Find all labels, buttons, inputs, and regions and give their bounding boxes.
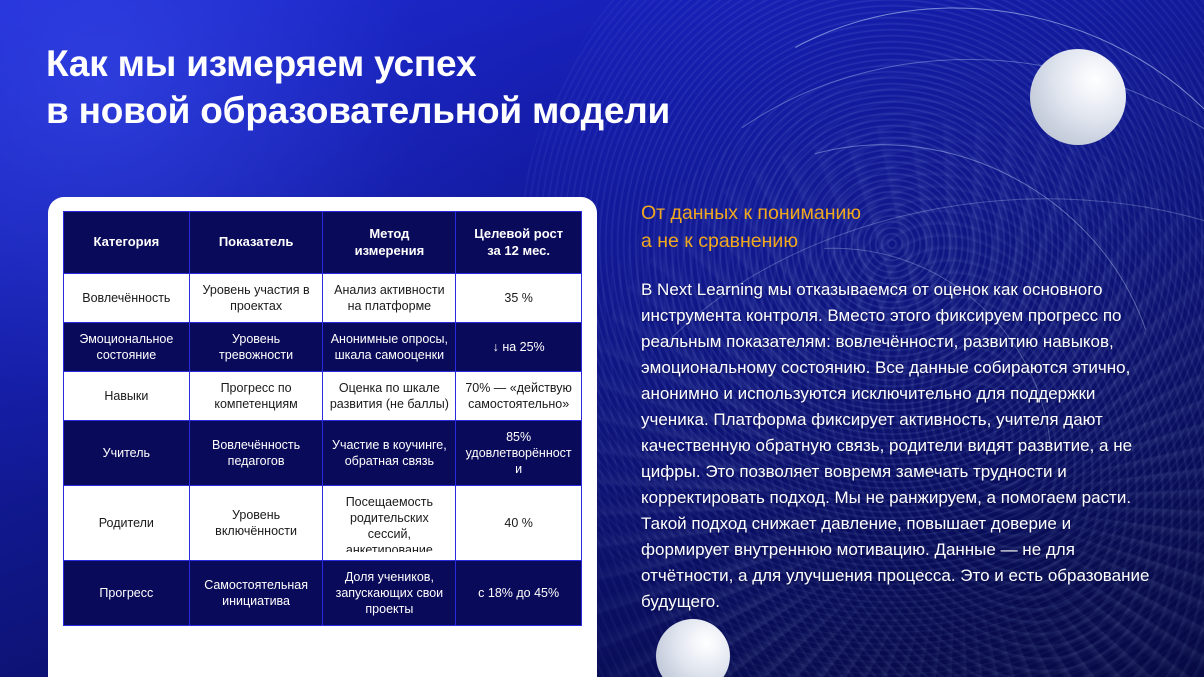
metrics-table-body: Вовлечённость Уровень участия в проектах… [64, 274, 582, 626]
cell-method: Анализ активности на платформе [323, 274, 456, 323]
cell-indicator-text: Уровень тревожности [196, 331, 317, 363]
column-header-method-line-1: Метод [369, 226, 409, 241]
panel-body-text: В Next Learning мы отказываемся от оцено… [641, 277, 1153, 615]
column-header-category: Категория [64, 212, 190, 274]
panel-title-line-2: а не к сравнению [641, 228, 1153, 256]
cell-method: Оценка по шкале развития (не баллы) [323, 372, 456, 421]
cell-indicator: Уровень тревожности [189, 323, 323, 372]
cell-target-text: ↓ на 25% [462, 339, 575, 355]
cell-indicator-text: Прогресс по компетенциям [196, 380, 317, 412]
cell-method: Анонимные опросы, шкала самооценки [323, 323, 456, 372]
table-header-row: Категория Показатель Метод измерения Цел… [64, 212, 582, 274]
right-text-panel: От данных к пониманию а не к сравнению В… [641, 200, 1153, 615]
decorative-sphere-bottom [656, 619, 730, 677]
cell-indicator-text: Уровень участия в проектах [196, 282, 317, 314]
cell-method-text: Посещаемость родительских сессий, анкети… [329, 494, 449, 552]
metrics-table-head: Категория Показатель Метод измерения Цел… [64, 212, 582, 274]
panel-title: От данных к пониманию а не к сравнению [641, 200, 1153, 255]
table-row: Родители Уровень включённости Посещаемос… [64, 486, 582, 561]
cell-category-text: Эмоциональное состояние [70, 331, 183, 363]
cell-method-text: Доля учеников, запускающих свои проекты [329, 569, 449, 617]
metrics-table-card: Категория Показатель Метод измерения Цел… [48, 197, 597, 677]
cell-method: Посещаемость родительских сессий, анкети… [323, 486, 456, 561]
column-header-method-line-2: измерения [355, 243, 425, 258]
cell-target-text: 85% удовлетворённости [462, 429, 575, 477]
cell-indicator: Уровень участия в проектах [189, 274, 323, 323]
cell-indicator: Вовлечённость педагогов [189, 421, 323, 486]
cell-target: 70% — «действую самостоятельно» [456, 372, 582, 421]
cell-method-text: Анализ активности на платформе [329, 282, 449, 314]
metrics-table: Категория Показатель Метод измерения Цел… [63, 211, 582, 626]
cell-target: ↓ на 25% [456, 323, 582, 372]
cell-method: Участие в коучинге, обратная связь [323, 421, 456, 486]
table-row: Прогресс Самостоятельная инициатива Доля… [64, 561, 582, 626]
cell-category: Навыки [64, 372, 190, 421]
cell-indicator: Прогресс по компетенциям [189, 372, 323, 421]
column-header-indicator: Показатель [189, 212, 323, 274]
table-row: Навыки Прогресс по компетенциям Оценка п… [64, 372, 582, 421]
column-header-target-line-1: Целевой рост [474, 226, 563, 241]
cell-indicator: Уровень включённости [189, 486, 323, 561]
cell-target: 85% удовлетворённости [456, 421, 582, 486]
cell-category: Родители [64, 486, 190, 561]
cell-category-text: Вовлечённость [70, 290, 183, 306]
cell-category: Учитель [64, 421, 190, 486]
column-header-target: Целевой рост за 12 мес. [456, 212, 582, 274]
cell-target: с 18% до 45% [456, 561, 582, 626]
cell-target-text: 35 % [462, 290, 575, 306]
decorative-sphere-top [1030, 49, 1126, 145]
cell-indicator-text: Самостоятельная инициатива [196, 577, 317, 609]
cell-method: Доля учеников, запускающих свои проекты [323, 561, 456, 626]
cell-category: Прогресс [64, 561, 190, 626]
cell-category-text: Навыки [70, 388, 183, 404]
column-header-method: Метод измерения [323, 212, 456, 274]
cell-category: Эмоциональное состояние [64, 323, 190, 372]
cell-target: 35 % [456, 274, 582, 323]
column-header-indicator-text: Показатель [219, 234, 294, 249]
slide-canvas: Как мы измеряем успех в новой образовате… [0, 0, 1204, 677]
table-row: Вовлечённость Уровень участия в проектах… [64, 274, 582, 323]
cell-category-text: Прогресс [70, 585, 183, 601]
column-header-target-line-2: за 12 мес. [487, 243, 550, 258]
headline-line-2: в новой образовательной модели [46, 88, 806, 135]
cell-target-text: 40 % [462, 515, 575, 531]
cell-target: 40 % [456, 486, 582, 561]
cell-indicator: Самостоятельная инициатива [189, 561, 323, 626]
cell-category-text: Родители [70, 515, 183, 531]
column-header-category-text: Категория [94, 234, 160, 249]
cell-target-text: 70% — «действую самостоятельно» [462, 380, 575, 412]
cell-category-text: Учитель [70, 445, 183, 461]
cell-indicator-text: Вовлечённость педагогов [196, 437, 317, 469]
cell-method-text: Участие в коучинге, обратная связь [329, 437, 449, 469]
cell-category: Вовлечённость [64, 274, 190, 323]
slide-headline: Как мы измеряем успех в новой образовате… [46, 41, 806, 134]
table-row: Эмоциональное состояние Уровень тревожно… [64, 323, 582, 372]
cell-target-text: с 18% до 45% [462, 585, 575, 601]
cell-indicator-text: Уровень включённости [196, 507, 317, 539]
headline-line-1: Как мы измеряем успех [46, 41, 806, 88]
panel-title-line-1: От данных к пониманию [641, 200, 1153, 228]
cell-method-text: Оценка по шкале развития (не баллы) [329, 380, 449, 412]
table-row: Учитель Вовлечённость педагогов Участие … [64, 421, 582, 486]
cell-method-text: Анонимные опросы, шкала самооценки [329, 331, 449, 363]
